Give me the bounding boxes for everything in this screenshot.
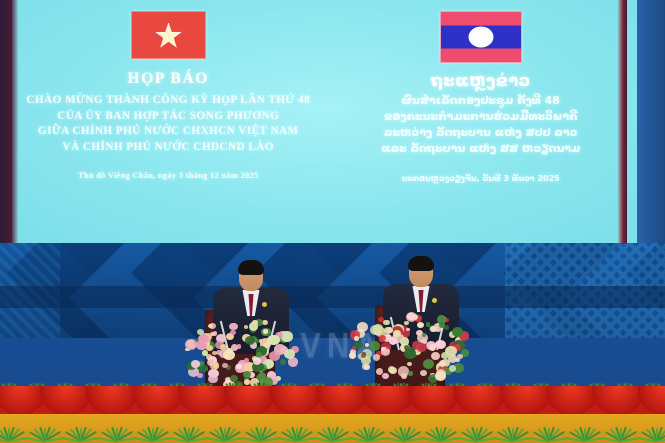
screen-frame-right — [617, 0, 627, 245]
laos-flag — [440, 11, 522, 63]
vietnam-line-2: CỦA ỦY BAN HỢP TÁC SONG PHƯƠNG — [26, 109, 310, 125]
screen-frame-left — [12, 0, 19, 243]
planter-row-front — [0, 404, 665, 443]
vietnam-line-3: GIỮA CHÍNH PHỦ NƯỚC CHXHCN VIỆT NAM — [26, 124, 310, 140]
laos-line-2: ຂອງຄະນະກໍາມະການຮ່ວມມືທະວິພາຄີ — [381, 109, 580, 125]
laos-headline: ຖະແຫຼງຂ່າວ — [431, 71, 530, 90]
screen-half-laos: ຖະແຫຼງຂ່າວ ຜົນສໍາເລັດກອງປະຊຸມ ຄັ້ງທີ 48 … — [325, 0, 638, 243]
laos-flag-disc — [468, 27, 493, 48]
laos-line-1: ຜົນສໍາເລັດກອງປະຊຸມ ຄັ້ງທີ 48 — [381, 93, 580, 109]
screenshot-root: HỌP BÁO CHÀO MỪNG THÀNH CÔNG KỲ HỌP LẦN … — [0, 0, 665, 443]
laos-line-3: ລະຫວ່າງ ລັດຖະບານ ແຫ່ງ ສປປ ລາວ — [381, 125, 580, 141]
vietnam-headline: HỌP BÁO — [128, 70, 209, 88]
laos-line-4: ແລະ ລັດຖະບານ ແຫ່ງ ສສ ຫວຽດນາມ — [381, 141, 580, 157]
speaker-hair — [238, 260, 264, 275]
speaker-lapel-pin — [262, 302, 267, 307]
vietnam-flag — [131, 11, 206, 59]
speaker-lapel-pin — [432, 298, 437, 303]
laos-date-line: ນະຄອນຫຼວງວຽງຈັນ, ວັນທີ 3 ທັນວາ 2025 — [402, 174, 560, 183]
led-presentation-screen: HỌP BÁO CHÀO MỪNG THÀNH CÔNG KỲ HỌP LẦN … — [12, 0, 637, 243]
vietnam-line-4: VÀ CHÍNH PHỦ NƯỚC CHDCND LÀO — [26, 140, 310, 156]
laos-body-text: ຜົນສໍາເລັດກອງປະຊຸມ ຄັ້ງທີ 48 ຂອງຄະນະກໍາມ… — [381, 93, 580, 157]
screen-half-vietnam: HỌP BÁO CHÀO MỪNG THÀNH CÔNG KỲ HỌP LẦN … — [12, 0, 325, 243]
vietnam-date-line: Thủ đô Viêng Chăn, ngày 3 tháng 12 năm 2… — [78, 171, 258, 180]
decorative-plant — [636, 405, 665, 441]
backdrop-shadow-band — [0, 286, 665, 308]
vietnam-line-1: CHÀO MỪNG THÀNH CÔNG KỲ HỌP LẦN THỨ 48 — [26, 93, 310, 109]
vietnam-body-text: CHÀO MỪNG THÀNH CÔNG KỲ HỌP LẦN THỨ 48 C… — [26, 93, 310, 155]
speaker-hair — [408, 256, 434, 271]
